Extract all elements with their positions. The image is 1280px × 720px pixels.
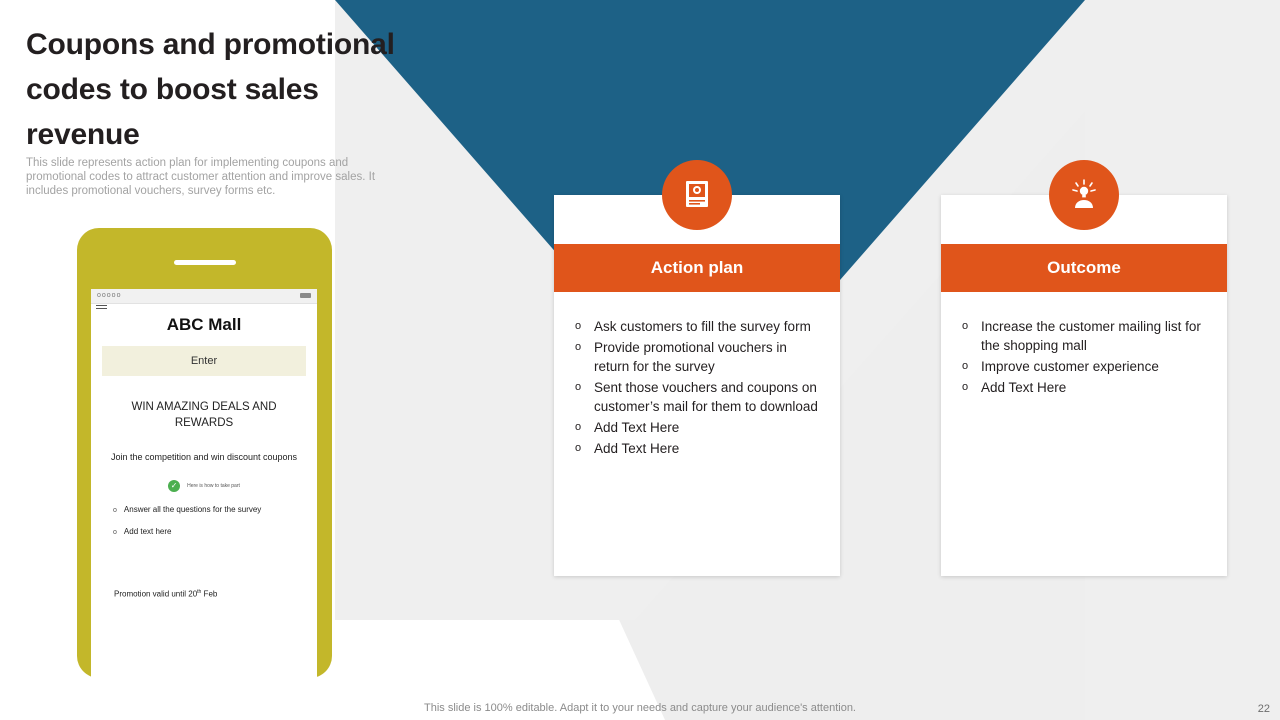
card-title: Outcome xyxy=(941,244,1227,292)
promotion-validity-tail: Feb xyxy=(201,590,217,599)
card-body: Ask customers to fill the survey form Pr… xyxy=(573,317,823,460)
phone-bullet-list: o Answer all the questions for the surve… xyxy=(113,505,309,549)
list-item: Provide promotional vouchers in return f… xyxy=(573,338,823,376)
card-action-plan: Action plan Ask customers to fill the su… xyxy=(554,195,840,576)
check-icon: ✓ xyxy=(168,480,180,492)
home-button[interactable] xyxy=(187,631,223,667)
page-subtitle: This slide represents action plan for im… xyxy=(26,156,398,198)
phone-speaker xyxy=(174,260,236,265)
certificate-icon xyxy=(662,160,732,230)
promotion-validity-text: Promotion valid until 20 xyxy=(114,590,197,599)
signal-dots-icon: ooooo xyxy=(97,292,121,300)
bullet-marker: o xyxy=(113,505,117,516)
list-item-label: Add text here xyxy=(124,527,172,538)
list-item: o Answer all the questions for the surve… xyxy=(113,505,309,516)
list-item: Improve customer experience xyxy=(960,357,1210,376)
page-number: 22 xyxy=(1258,703,1270,715)
menu-icon[interactable] xyxy=(96,305,107,311)
slide-root: Coupons and promotional codes to boost s… xyxy=(0,0,1280,720)
enter-button[interactable]: Enter xyxy=(102,346,306,376)
promo-headline: WIN AMAZING DEALS AND REWARDS xyxy=(103,399,305,431)
how-to-take-part-row: ✓ Here is how to take part xyxy=(91,480,317,492)
card-bullet-list: Increase the customer mailing list for t… xyxy=(960,317,1210,397)
footer-note: This slide is 100% editable. Adapt it to… xyxy=(0,702,1280,714)
list-item: Add Text Here xyxy=(573,439,823,458)
battery-icon xyxy=(300,293,311,298)
card-outcome: Outcome Increase the customer mailing li… xyxy=(941,195,1227,576)
phone-status-bar: ooooo xyxy=(91,289,317,304)
list-item: Add Text Here xyxy=(960,378,1210,397)
card-title: Action plan xyxy=(554,244,840,292)
card-body: Increase the customer mailing list for t… xyxy=(960,317,1210,399)
page-title: Coupons and promotional codes to boost s… xyxy=(26,22,426,157)
card-bullet-list: Ask customers to fill the survey form Pr… xyxy=(573,317,823,458)
list-item-label: Answer all the questions for the survey xyxy=(124,505,261,516)
how-to-take-part-label: Here is how to take part xyxy=(187,483,240,489)
list-item: Sent those vouchers and coupons on custo… xyxy=(573,378,823,416)
promo-subhead: Join the competition and win discount co… xyxy=(109,451,299,464)
list-item: Ask customers to fill the survey form xyxy=(573,317,823,336)
list-item: o Add text here xyxy=(113,527,309,538)
app-title: ABC Mall xyxy=(91,315,317,335)
bullet-marker: o xyxy=(113,527,117,538)
list-item: Add Text Here xyxy=(573,418,823,437)
phone-mockup: ooooo ABC Mall Enter WIN AMAZING DEALS A… xyxy=(77,228,332,678)
list-item: Increase the customer mailing list for t… xyxy=(960,317,1210,355)
presenter-idea-icon xyxy=(1049,160,1119,230)
promotion-validity: Promotion valid until 20th Feb xyxy=(114,589,217,599)
